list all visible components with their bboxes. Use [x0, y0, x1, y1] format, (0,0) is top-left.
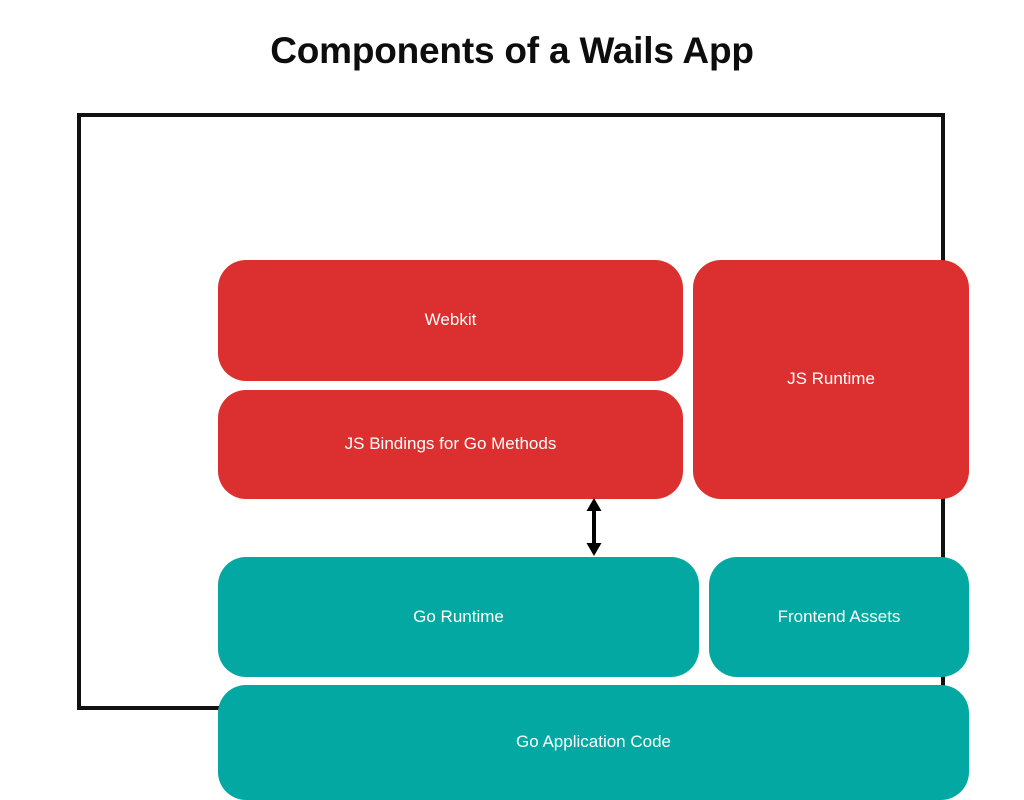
node-frontend-assets[interactable]: Frontend Assets — [709, 557, 969, 677]
node-frontend-assets-label: Frontend Assets — [778, 607, 901, 627]
node-webkit-label: Webkit — [425, 310, 477, 330]
node-webkit[interactable]: Webkit — [218, 260, 683, 381]
application-boundary-frame: Webkit JS Bindings for Go Methods JS Run… — [77, 113, 945, 710]
double-headed-vertical-arrow-icon — [578, 497, 610, 557]
diagram-slide: Components of a Wails App Webkit JS Bind… — [0, 0, 1024, 768]
node-go-application-code[interactable]: Go Application Code — [218, 685, 969, 800]
node-go-runtime[interactable]: Go Runtime — [218, 557, 699, 677]
node-go-runtime-label: Go Runtime — [413, 607, 504, 627]
node-js-bindings-for-go-methods[interactable]: JS Bindings for Go Methods — [218, 390, 683, 499]
node-js-runtime[interactable]: JS Runtime — [693, 260, 969, 499]
node-go-app-code-label: Go Application Code — [516, 732, 671, 752]
page-title: Components of a Wails App — [0, 30, 1024, 72]
node-js-bindings-label: JS Bindings for Go Methods — [345, 434, 557, 454]
node-js-runtime-label: JS Runtime — [787, 369, 875, 389]
